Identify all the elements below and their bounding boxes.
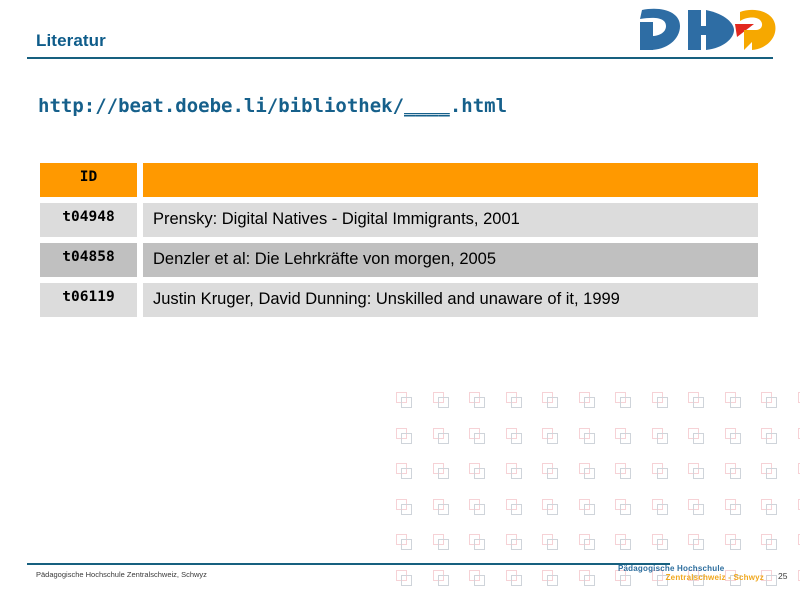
watermark-tile: [615, 428, 631, 444]
watermark-tile: [688, 499, 704, 515]
table-header-row: ID: [40, 163, 758, 197]
watermark-square-front: [547, 539, 558, 550]
watermark-tile: [506, 463, 522, 479]
watermark-square-back: [433, 463, 444, 474]
watermark-square-back: [396, 463, 407, 474]
watermark-square-back: [579, 463, 590, 474]
watermark-square-front: [474, 433, 485, 444]
watermark-tile: [542, 463, 558, 479]
watermark-square-back: [469, 392, 480, 403]
watermark-square-front: [730, 397, 741, 408]
watermark-square-back: [396, 570, 407, 581]
watermark-tile: [615, 463, 631, 479]
footer-brand-line1: Pädagogische Hochschule: [618, 564, 768, 573]
watermark-square-front: [693, 468, 704, 479]
watermark-square-back: [542, 534, 553, 545]
watermark-square-front: [730, 504, 741, 515]
watermark-square-front: [584, 504, 595, 515]
watermark-tile: [542, 499, 558, 515]
watermark-square-front: [584, 468, 595, 479]
watermark-square-front: [474, 397, 485, 408]
watermark-square-back: [433, 570, 444, 581]
footer-divider: [27, 563, 670, 565]
header-divider: [27, 57, 773, 59]
watermark-tile: [506, 570, 522, 586]
watermark-square-front: [693, 539, 704, 550]
watermark-square-back: [506, 534, 517, 545]
watermark-square-front: [511, 504, 522, 515]
watermark-square-back: [725, 392, 736, 403]
watermark-square-front: [547, 397, 558, 408]
watermark-tile: [761, 463, 777, 479]
watermark-tile: [433, 499, 449, 515]
watermark-tile: [579, 570, 595, 586]
watermark-tile: [506, 392, 522, 408]
watermark-square-front: [657, 539, 668, 550]
url-blank-placeholder: ____: [404, 95, 450, 117]
watermark-square-back: [688, 499, 699, 510]
cell-title: Prensky: Digital Natives - Digital Immig…: [143, 203, 758, 237]
watermark-tile: [469, 428, 485, 444]
watermark-square-front: [438, 504, 449, 515]
watermark-square-back: [506, 392, 517, 403]
watermark-square-back: [688, 463, 699, 474]
watermark-tile: [469, 392, 485, 408]
footer-brand: Pädagogische Hochschule Zentralschweiz -…: [618, 564, 768, 582]
watermark-square-back: [615, 428, 626, 439]
watermark-square-front: [657, 433, 668, 444]
watermark-square-back: [761, 463, 772, 474]
watermark-square-front: [511, 575, 522, 586]
watermark-square-back: [396, 534, 407, 545]
watermark-square-front: [584, 397, 595, 408]
watermark-tile: [725, 392, 741, 408]
watermark-tile: [688, 463, 704, 479]
watermark-square-front: [401, 433, 412, 444]
watermark-square-back: [652, 499, 663, 510]
watermark-tile: [542, 428, 558, 444]
watermark-square-front: [584, 539, 595, 550]
watermark-square-back: [725, 534, 736, 545]
watermark-square-front: [657, 397, 668, 408]
watermark-tile: [725, 463, 741, 479]
watermark-square-back: [433, 428, 444, 439]
cell-id: t04948: [40, 203, 137, 237]
watermark-square-front: [438, 575, 449, 586]
watermark-square-back: [469, 463, 480, 474]
watermark-square-back: [469, 534, 480, 545]
watermark-tile: [579, 463, 595, 479]
watermark-square-front: [474, 539, 485, 550]
watermark-square-front: [547, 433, 558, 444]
watermark-square-front: [766, 433, 777, 444]
watermark-square-back: [688, 534, 699, 545]
watermark-square-front: [693, 433, 704, 444]
watermark-square-back: [725, 463, 736, 474]
watermark-square-front: [511, 539, 522, 550]
watermark-square-back: [396, 499, 407, 510]
watermark-square-front: [547, 504, 558, 515]
watermark-square-back: [506, 499, 517, 510]
watermark-square-back: [652, 428, 663, 439]
watermark-square-back: [469, 499, 480, 510]
watermark-square-back: [761, 428, 772, 439]
page-title: Literatur: [36, 31, 106, 51]
watermark-tile: [688, 392, 704, 408]
watermark-tile: [688, 534, 704, 550]
watermark-tile: [761, 499, 777, 515]
watermark-tile: [652, 499, 668, 515]
watermark-square-back: [725, 499, 736, 510]
table-row[interactable]: t06119 Justin Kruger, David Dunning: Uns…: [40, 283, 758, 317]
cell-title: Justin Kruger, David Dunning: Unskilled …: [143, 283, 758, 317]
watermark-square-back: [579, 428, 590, 439]
watermark-tile: [469, 534, 485, 550]
watermark-tile: [761, 534, 777, 550]
watermark-square-front: [474, 504, 485, 515]
watermark-square-back: [506, 428, 517, 439]
watermark-square-front: [766, 397, 777, 408]
watermark-square-back: [761, 534, 772, 545]
watermark-square-back: [761, 499, 772, 510]
watermark-tile: [506, 499, 522, 515]
watermark-square-back: [615, 463, 626, 474]
watermark-tile: [469, 463, 485, 479]
watermark-square-front: [401, 504, 412, 515]
watermark-square-back: [433, 392, 444, 403]
watermark-square-front: [620, 397, 631, 408]
watermark-square-front: [401, 575, 412, 586]
watermark-square-front: [620, 468, 631, 479]
watermark-square-back: [579, 499, 590, 510]
table-row[interactable]: t04948 Prensky: Digital Natives - Digita…: [40, 203, 758, 237]
watermark-tile: [433, 428, 449, 444]
watermark-tile: [761, 428, 777, 444]
watermark-square-back: [433, 534, 444, 545]
watermark-tile: [396, 534, 412, 550]
watermark-tile: [725, 534, 741, 550]
watermark-tile: [433, 392, 449, 408]
watermark-tile: [396, 392, 412, 408]
watermark-square-back: [396, 428, 407, 439]
watermark-tile: [506, 428, 522, 444]
watermark-tile: [761, 392, 777, 408]
watermark-square-back: [579, 392, 590, 403]
watermark-tile: [542, 570, 558, 586]
cell-id: t04858: [40, 243, 137, 277]
column-header-title: [143, 163, 758, 197]
watermark-square-front: [657, 504, 668, 515]
watermark-tile: [542, 392, 558, 408]
watermark-square-front: [547, 575, 558, 586]
watermark-square-front: [584, 575, 595, 586]
watermark-tile: [433, 463, 449, 479]
watermark-tile: [725, 499, 741, 515]
watermark-square-back: [615, 499, 626, 510]
watermark-square-back: [579, 570, 590, 581]
watermark-square-back: [542, 463, 553, 474]
watermark-tile: [688, 428, 704, 444]
cell-title: Denzler et al: Die Lehrkräfte von morgen…: [143, 243, 758, 277]
watermark-square-front: [766, 539, 777, 550]
watermark-tile: [652, 428, 668, 444]
literature-table: ID t04948 Prensky: Digital Natives - Dig…: [40, 163, 758, 323]
watermark-square-back: [469, 428, 480, 439]
watermark-square-front: [474, 468, 485, 479]
watermark-square-front: [730, 433, 741, 444]
watermark-square-back: [506, 463, 517, 474]
watermark-square-back: [506, 570, 517, 581]
watermark-square-back: [688, 428, 699, 439]
watermark-tile: [652, 534, 668, 550]
watermark-square-back: [761, 392, 772, 403]
watermark-tile: [396, 499, 412, 515]
url-prefix: http://beat.doebe.li/bibliothek/: [38, 95, 404, 117]
watermark-tile: [396, 463, 412, 479]
url-suffix: .html: [450, 95, 507, 117]
watermark-tile: [579, 392, 595, 408]
watermark-tile: [469, 570, 485, 586]
watermark-square-front: [657, 468, 668, 479]
watermark-square-back: [652, 392, 663, 403]
watermark-square-front: [438, 468, 449, 479]
watermark-square-front: [730, 539, 741, 550]
watermark-square-back: [688, 392, 699, 403]
watermark-square-front: [766, 468, 777, 479]
watermark-square-front: [438, 433, 449, 444]
watermark-square-back: [542, 428, 553, 439]
table-row[interactable]: t04858 Denzler et al: Die Lehrkräfte von…: [40, 243, 758, 277]
watermark-square-front: [474, 575, 485, 586]
footer-brand-line2: Zentralschweiz - Schwyz: [618, 573, 768, 582]
watermark-square-front: [401, 397, 412, 408]
watermark-tile: [506, 534, 522, 550]
watermark-square-back: [396, 392, 407, 403]
watermark-square-back: [725, 428, 736, 439]
watermark-square-front: [584, 433, 595, 444]
watermark-square-back: [615, 534, 626, 545]
watermark-tile: [396, 428, 412, 444]
watermark-square-front: [730, 468, 741, 479]
watermark-square-front: [401, 539, 412, 550]
watermark-square-front: [620, 433, 631, 444]
watermark-square-back: [469, 570, 480, 581]
page-number: 25: [778, 571, 787, 581]
watermark-tile: [433, 570, 449, 586]
watermark-tile: [542, 534, 558, 550]
watermark-tile: [615, 499, 631, 515]
watermark-square-back: [652, 463, 663, 474]
watermark-square-back: [579, 534, 590, 545]
watermark-square-front: [620, 539, 631, 550]
watermark-square-front: [693, 504, 704, 515]
watermark-tile: [652, 463, 668, 479]
watermark-square-back: [542, 392, 553, 403]
watermark-square-front: [511, 468, 522, 479]
phz-logo-icon: [636, 6, 778, 54]
watermark-tile: [652, 392, 668, 408]
column-header-id: ID: [40, 163, 137, 197]
watermark-square-front: [511, 433, 522, 444]
watermark-tile: [579, 499, 595, 515]
watermark-tile: [433, 534, 449, 550]
watermark-square-back: [433, 499, 444, 510]
watermark-tile: [615, 392, 631, 408]
bibliothek-url: http://beat.doebe.li/bibliothek/____.htm…: [38, 95, 507, 117]
watermark-tile: [615, 534, 631, 550]
watermark-tile: [469, 499, 485, 515]
watermark-tile: [579, 428, 595, 444]
watermark-square-front: [547, 468, 558, 479]
watermark-square-front: [438, 539, 449, 550]
watermark-square-front: [766, 504, 777, 515]
watermark-tile: [579, 534, 595, 550]
watermark-square-back: [542, 570, 553, 581]
watermark-tile: [725, 428, 741, 444]
watermark-square-front: [438, 397, 449, 408]
watermark-tile: [396, 570, 412, 586]
watermark-square-front: [401, 468, 412, 479]
watermark-square-back: [615, 392, 626, 403]
footer-institution: Pädagogische Hochschule Zentralschweiz, …: [36, 570, 207, 579]
watermark-square-front: [693, 397, 704, 408]
watermark-square-front: [620, 504, 631, 515]
watermark-square-back: [542, 499, 553, 510]
watermark-square-back: [652, 534, 663, 545]
cell-id: t06119: [40, 283, 137, 317]
watermark-square-front: [511, 397, 522, 408]
